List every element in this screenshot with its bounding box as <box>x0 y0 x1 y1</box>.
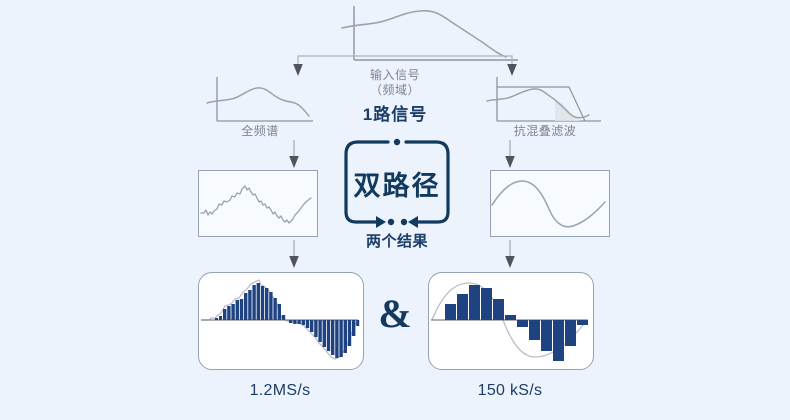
ampersand-separator: & <box>372 294 418 334</box>
infographic-canvas: 输入信号 （频域） 1路信号 全频谱 <box>0 0 790 420</box>
arrowhead <box>505 156 515 168</box>
arrowhead <box>505 256 515 268</box>
spectrum-noise-trace <box>201 186 311 223</box>
dual-path-badge: 双路径 <box>338 138 456 228</box>
badge-top-dot <box>394 139 400 145</box>
input-caption-line2: （频域） <box>330 83 460 98</box>
badge-title: 双路径 <box>338 164 456 203</box>
filtered-signal-trace <box>487 89 589 118</box>
high-rate-label: 1.2MS/s <box>198 382 362 400</box>
badge-bottom-dot-right <box>401 219 407 225</box>
badge-bottom-dot-left <box>388 219 394 225</box>
low-rate-label: 150 kS/s <box>428 382 592 400</box>
full-spectrum-trace <box>207 88 309 116</box>
arrow-spectrum-to-result <box>287 240 301 268</box>
anti-alias-filter-caption: 抗混叠滤波 <box>485 124 605 139</box>
high-rate-positive-bars <box>215 283 285 320</box>
high-rate-negative-bars <box>289 320 359 358</box>
channel-count-label: 1路信号 <box>330 100 460 125</box>
low-rate-positive-bars <box>445 285 516 320</box>
filtered-sine-panel <box>490 170 610 237</box>
high-rate-result-panel <box>198 272 364 370</box>
full-spectrum-panel <box>198 170 318 237</box>
arrowhead <box>289 256 299 268</box>
anti-alias-filter-chart <box>485 75 605 130</box>
right-branch-line <box>357 56 512 64</box>
badge-subtitle: 两个结果 <box>337 230 457 251</box>
arrow-sine-to-result <box>503 240 517 268</box>
high-rate-chart <box>199 273 360 366</box>
arrow-fullspectrum-to-panel <box>287 140 301 168</box>
left-branch-line <box>298 56 357 64</box>
low-rate-chart <box>429 273 590 366</box>
badge-right-arrowhead <box>408 216 418 228</box>
arrow-filter-to-panel <box>503 140 517 168</box>
arrowhead <box>289 156 299 168</box>
full-spectrum-caption: 全频谱 <box>205 124 315 139</box>
full-spectrum-chart <box>205 75 315 130</box>
sine-trace <box>492 181 605 227</box>
badge-left-arrowhead <box>376 216 386 228</box>
low-rate-result-panel <box>428 272 594 370</box>
